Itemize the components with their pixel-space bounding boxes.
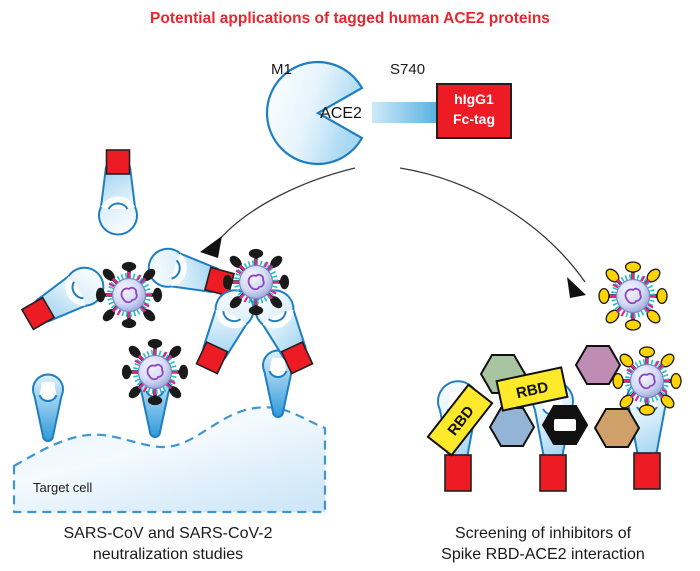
panel-left-caption-line1: SARS-CoV and SARS-CoV-2 — [64, 525, 273, 542]
fc-tag-line1: hIgG1 — [454, 91, 494, 107]
inhibitor-mauve — [576, 346, 620, 384]
diagram-canvas: Potential applications of tagged human A… — [0, 0, 700, 571]
arrow-left-curve — [219, 168, 355, 240]
ace2-fc-molecule — [99, 150, 137, 234]
inhibitor-blue — [490, 408, 534, 446]
ace2-fc-molecule — [190, 284, 260, 377]
virion — [599, 262, 667, 330]
virion — [223, 249, 289, 315]
panel-left-neutralization: Target cell — [14, 150, 325, 563]
panel-left-caption-line2: neutralization studies — [93, 546, 243, 563]
inhibitor-tan — [595, 409, 639, 447]
arrow-right-curve — [400, 168, 585, 282]
panel-right-caption-line1: Screening of inhibitors of — [455, 525, 632, 542]
target-cell-region — [14, 407, 325, 512]
inhibitor-black — [543, 406, 587, 444]
figure-root: Potential applications of tagged human A… — [0, 0, 700, 571]
panel-right-screening: RBD RBD Screening of inhibitors of Spike… — [428, 262, 681, 563]
label-m1: M1 — [271, 61, 292, 78]
target-cell-label: Target cell — [33, 480, 92, 495]
membrane-ace2-receptor — [33, 374, 63, 441]
label-s740: S740 — [390, 61, 425, 78]
fc-tag-line2: Fc-tag — [453, 111, 495, 127]
figure-title: Potential applications of tagged human A… — [150, 10, 550, 27]
virion — [122, 339, 188, 405]
ace2-fc-construct: hIgG1 Fc-tag M1 S740 ACE2 — [267, 61, 511, 164]
arrow-left-head — [200, 236, 222, 258]
virion — [96, 262, 162, 328]
label-ace2: ACE2 — [320, 105, 362, 122]
rbd-tag: RBD — [428, 385, 492, 455]
virion — [613, 347, 681, 415]
panel-right-caption-line2: Spike RBD-ACE2 interaction — [441, 546, 645, 563]
inhibitor-black-window — [554, 419, 576, 431]
